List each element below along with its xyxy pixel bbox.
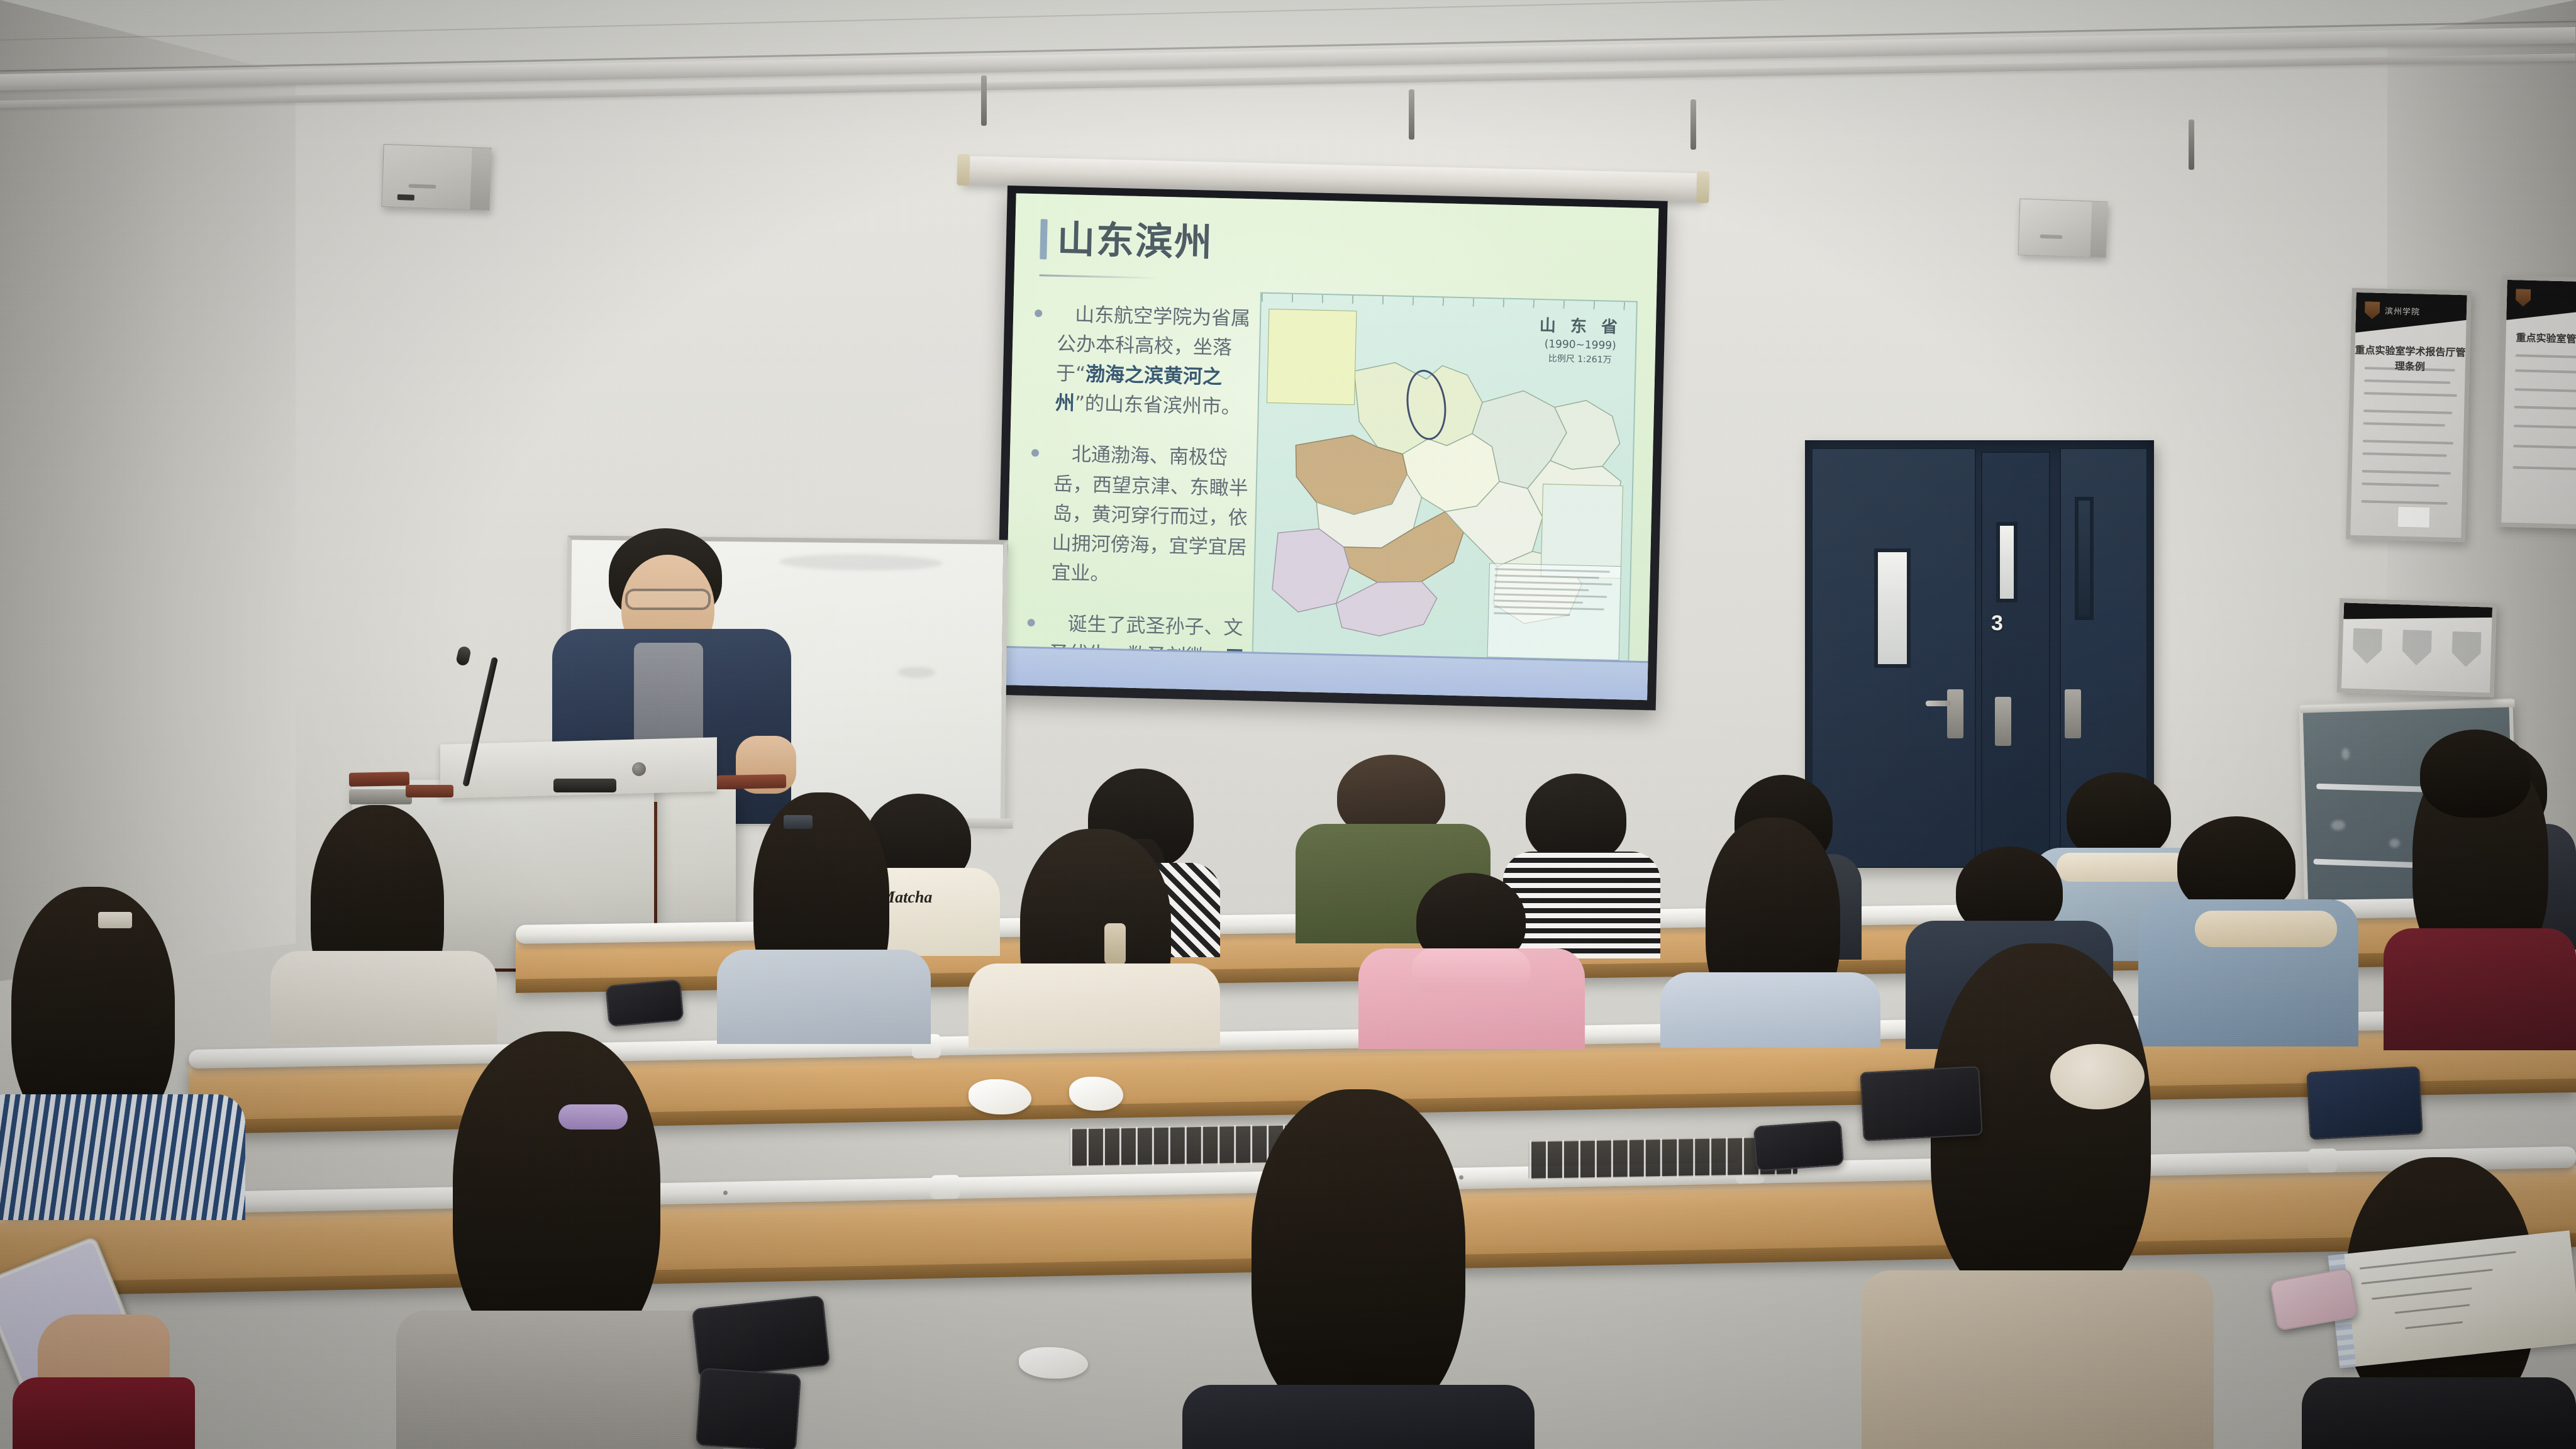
conduit-hanger [1690,99,1696,150]
tablet[interactable] [1860,1066,1982,1141]
notice-text-line [2362,470,2451,474]
notice-header [2506,280,2576,323]
notice-text-line [2361,500,2447,504]
student-torso [0,1094,245,1220]
student-torso [2384,928,2576,1050]
slide-title: 山东滨州 [1057,221,1213,262]
student-torso [969,963,1220,1048]
sleeve [13,1377,195,1449]
notice-label-tag [2397,506,2431,528]
shandong-province-map: 山 东 省 (1990~1999) 比例尺 1:261万 [1252,292,1638,679]
whiteboard-smudge [779,553,943,572]
student [2384,730,2576,931]
slide-bullet: 北通渤海、南极岱岳，西望京津、东瞰半岛，黄河穿行而过，依山拥河傍海，宜学宜居宜业… [1028,439,1252,592]
student [270,805,497,1044]
door-handle[interactable] [1947,689,1963,738]
projection-screen[interactable]: 山东滨州 山东航空学院为省属公办本科高校，坐落于“渤海之滨黄河之州”的山东省滨州… [996,186,1668,711]
door-lever[interactable] [1926,701,1951,706]
legend-line [1494,587,1589,591]
hair-scrunchie [2050,1044,2145,1109]
left-wall [0,0,296,981]
wall-speaker-right [2018,199,2107,258]
notice-text-line [2363,422,2445,426]
notice-text-line [2364,379,2450,384]
hoodie-hood [1411,948,1531,992]
speaker-side [2090,202,2108,258]
rail-joint [931,1175,960,1199]
student-torso [1660,972,1880,1048]
student-torso [270,951,497,1044]
legend-line [1495,568,1610,572]
legend-line [1494,580,1612,585]
slide-bullet-text: 山东航空学院为省属公办本科高校，坐落于“渤海之滨黄河之州”的山东省滨州市。 [1055,300,1255,423]
notice-text-line [2363,440,2453,445]
student-hair [1526,774,1626,863]
bullet-dot-icon [1031,449,1039,457]
notice-board: 滨州学院 重点实验室学术报告厅管理条例 [2346,288,2472,543]
student-hair [1252,1089,1465,1423]
certificate-shield-icon [2352,628,2382,664]
conduit-hanger [981,75,987,126]
map-legend [1487,563,1621,660]
slide: 山东滨州 山东航空学院为省属公办本科高校，坐落于“渤海之滨黄河之州”的山东省滨州… [1004,193,1658,700]
board-eraser [406,785,453,797]
hair-clip [1104,923,1126,965]
notice-text-line [2364,392,2457,397]
notice-text-line [2514,406,2576,410]
notice-board: 重点实验室管理条例 [2497,275,2576,530]
student [396,1031,723,1449]
legend-line [1494,606,1604,610]
bullet-dot-icon [1027,619,1035,626]
student-torso [2302,1377,2576,1449]
student-torso [1182,1385,1535,1449]
notice-text-line [2362,482,2439,487]
door-window [2075,497,2094,620]
smartphone[interactable] [692,1295,831,1379]
notice-header [2343,602,2492,623]
handwriting-line [2361,1269,2492,1284]
rail-blemish [723,1191,728,1195]
notice-text-line [2362,452,2446,457]
notice-org-label: 滨州学院 [2385,304,2420,317]
podium-knob [632,762,646,776]
student-torso [396,1311,723,1449]
student [1182,1089,1535,1449]
smartphone[interactable] [1753,1120,1845,1172]
roller-end-cap [1696,172,1709,203]
student [1862,943,2214,1449]
student-torso [717,950,931,1044]
notice-text-line [2513,445,2576,449]
speaker-vent [408,184,436,189]
conduit-hanger [1409,89,1414,140]
speaker-side [470,148,492,210]
hair-clip [784,815,813,829]
door-window [1874,548,1911,668]
notice-text-line [2516,354,2576,358]
door-window [1996,522,2018,602]
smartphone[interactable] [696,1368,801,1449]
student [969,829,1220,1046]
microphone-base [553,779,616,792]
slide-title-block: 山东滨州 [1040,219,1213,263]
speaker-port [397,194,414,201]
student-torso [1862,1270,2214,1449]
hair-clip [98,912,132,928]
podium-edge-trim [717,774,786,789]
student [717,792,931,1044]
legend-line [1495,574,1599,579]
hair-clip [558,1104,628,1130]
tablet[interactable] [2306,1066,2423,1140]
lecturer-glasses [625,589,711,610]
lecture-hall-photo: 山东滨州 山东航空学院为省属公办本科高校，坐落于“渤海之滨黄河之州”的山东省滨州… [0,0,2576,1449]
student-hair [2420,730,2531,818]
wall-speaker-left [381,144,491,211]
notice-text-line [2514,425,2576,429]
speaker-vent [2040,234,2063,238]
slide-bullet: 山东航空学院为省属公办本科高校，坐落于“渤海之滨黄河之州”的山东省滨州市。 [1032,299,1255,423]
notice-board [2337,598,2497,697]
door-handle[interactable] [1995,697,2011,746]
conduit-hanger [2189,119,2194,170]
handwriting-line [2372,1287,2472,1300]
notice-text-line [2363,409,2452,414]
handwriting-line [2395,1304,2470,1314]
slide-title-rule [1040,274,1159,279]
whiteboard-smudge [897,667,935,679]
legend-line [1494,599,1583,603]
collar-fleece [2195,911,2337,947]
notice-text-line [2514,388,2576,393]
handwriting-line [2405,1321,2463,1330]
notice-text-line [2512,466,2576,470]
door-room-number: 3 [1991,611,2003,636]
student-hair [453,1031,660,1358]
notice-text-line [2515,369,2576,374]
legend-line [1494,593,1607,597]
board-eraser [349,789,412,804]
certificate-shield-icon [2451,631,2482,667]
slide-content: 山东滨州 山东航空学院为省属公办本科高校，坐落于“渤海之滨黄河之州”的山东省滨州… [1004,193,1658,700]
legend-line [1494,612,1570,616]
notice-title: 重点实验室管理条例 [2506,329,2576,347]
smartphone[interactable] [605,979,684,1027]
handwriting-line [2360,1251,2516,1269]
door-handle[interactable] [2065,689,2081,738]
slide-bullet-list: 山东航空学院为省属公办本科高校，坐落于“渤海之滨黄河之州”的山东省滨州市。 北通… [1025,299,1255,700]
slide-accent-bar [1040,219,1048,259]
student [1660,818,1880,1044]
slide-bullet-text: 北通渤海、南极岱岳，西望京津、东瞰半岛，黄河穿行而过，依山拥河傍海，宜学宜居宜业… [1051,440,1252,592]
certificate-row [2342,628,2492,667]
screen-surface: 山东滨州 山东航空学院为省属公办本科高校，坐落于“渤海之滨黄河之州”的山东省滨州… [1004,193,1658,700]
podium-edge-trim [349,772,409,787]
roller-end-cap [957,154,970,186]
student [1358,873,1585,1049]
map-inset-jinan [1267,309,1357,405]
screen-border: 山东滨州 山东航空学院为省属公办本科高校，坐落于“渤海之滨黄河之州”的山东省滨州… [996,186,1668,711]
chalk-smudge [2341,748,2349,760]
bullet-dot-icon [1035,309,1042,317]
certificate-shield-icon [2402,630,2432,665]
student [0,887,245,1214]
